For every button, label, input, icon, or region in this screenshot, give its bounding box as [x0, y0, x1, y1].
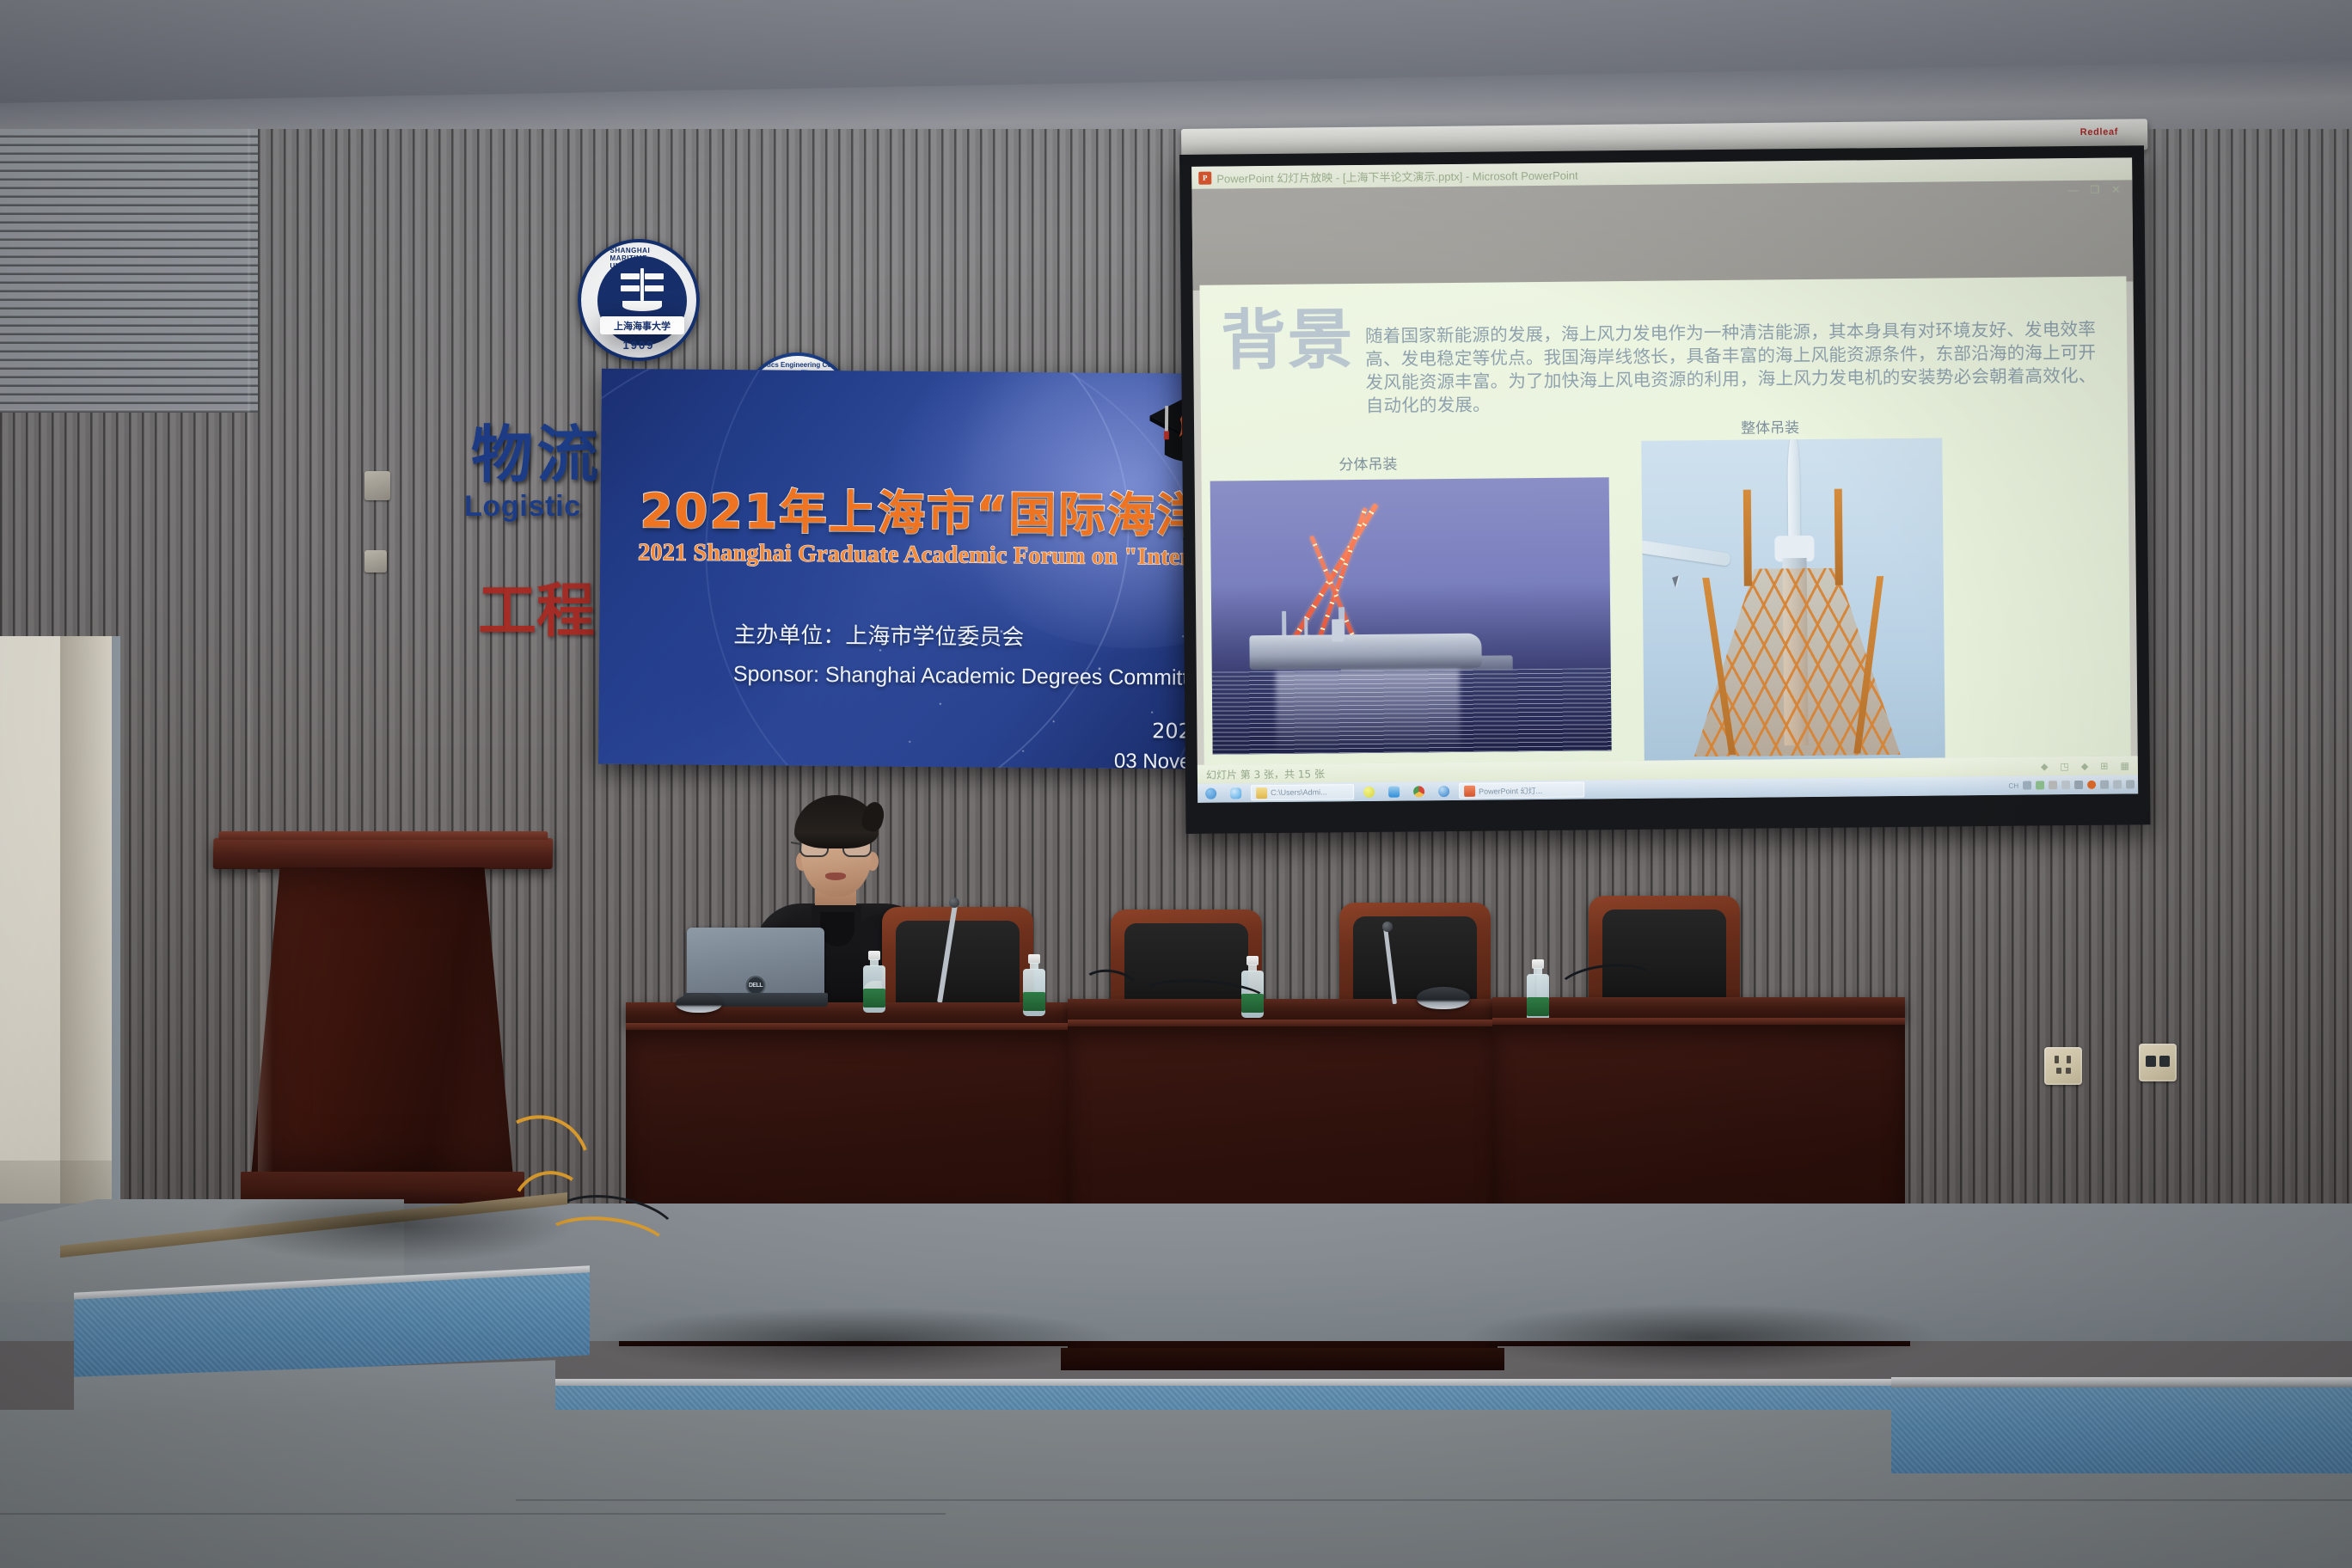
lectern-top — [213, 838, 554, 869]
internet-explorer-icon[interactable] — [1230, 787, 1241, 799]
event-banner: 2021年上海市“国际海洋新能 2021 Shanghai Graduate A… — [598, 369, 1255, 770]
tray-icon[interactable] — [2074, 781, 2083, 789]
maximize-icon[interactable]: ❐ — [2091, 184, 2100, 196]
water-bottle[interactable] — [1527, 959, 1549, 1021]
shanghai-maritime-university-wall-seal: SHANGHAI MARITIME UNIVERSITY 上海海事大学 1909 — [578, 239, 700, 361]
powerpoint-icon[interactable] — [1464, 785, 1475, 796]
mouse-cursor-icon — [1672, 576, 1681, 588]
taskbar-explorer-label: C:\Users\Admi... — [1271, 787, 1327, 797]
lectern-highlight — [258, 873, 273, 1173]
presenter-mouth — [825, 873, 846, 880]
wall-left-panel — [0, 129, 258, 413]
taskbar-powerpoint-label: PowerPoint 幻灯... — [1479, 784, 1542, 796]
windows-start-icon[interactable] — [1205, 787, 1216, 799]
view-icon[interactable]: ◆ — [2081, 760, 2089, 771]
turbine-blade — [1641, 531, 1730, 567]
folder-icon[interactable] — [1256, 787, 1267, 799]
seal-sail — [645, 285, 664, 291]
vessel-funnel — [1332, 619, 1344, 641]
lectern-body — [251, 867, 513, 1177]
microphone-head — [1382, 922, 1393, 932]
wall-lettering-red: 工程 — [478, 563, 595, 648]
conference-hall-photo: SHANGHAI MARITIME UNIVERSITY 上海海事大学 1909… — [0, 0, 2352, 1568]
tray-icon[interactable] — [2023, 781, 2031, 790]
slide-counter: 幻灯片 第 3 张，共 15 张 — [1206, 766, 1325, 781]
tray-warning-icon[interactable] — [2087, 781, 2096, 789]
status-bar-view-controls[interactable]: ◆ ◳ ◆ ⊞ ▦ — [2041, 756, 2129, 775]
minimize-icon[interactable]: — — [2068, 184, 2079, 196]
taskbar-start-button[interactable] — [1201, 786, 1221, 801]
taskbar-sogou-browser[interactable] — [1434, 783, 1454, 799]
tray-icon[interactable] — [2061, 781, 2070, 789]
banner-title-chinese: 2021年上海市“国际海洋新能 — [640, 472, 1255, 547]
banner-organizer-english: Sponsor: Shanghai Academic Degrees Commi… — [733, 662, 1212, 691]
wall-box-left — [364, 471, 390, 500]
seal-sail — [621, 273, 640, 279]
slide-caption-left: 分体吊装 — [1338, 452, 1397, 475]
water-bottle[interactable] — [1023, 954, 1045, 1016]
banner-title-english: 2021 Shanghai Graduate Academic Forum on… — [638, 539, 1225, 572]
powerpoint-chrome-band — [1191, 180, 2133, 290]
seal-year: 1909 — [581, 339, 696, 352]
conference-microphone-base — [676, 994, 722, 1013]
turbine-blade — [1787, 438, 1800, 541]
stage-right-riser — [1891, 1384, 2352, 1473]
view-icon[interactable]: ⊞ — [2100, 760, 2108, 771]
chrome-icon[interactable] — [1413, 786, 1424, 797]
presenter-hair — [794, 795, 879, 848]
doorway-shadow — [60, 636, 120, 1238]
screen-brand-label: Redleaf — [2080, 127, 2118, 138]
seal-hull — [622, 301, 662, 311]
tray-icon[interactable] — [2049, 781, 2057, 789]
seal-ring-text: Logistics Engineering College — [744, 361, 851, 369]
conference-microphone-base — [1417, 987, 1470, 1009]
microphone-head — [949, 897, 959, 908]
data-socket[interactable] — [2139, 1044, 2177, 1081]
powerpoint-title-text: PowerPoint 幻灯片放映 - [上海下半论文演示.pptx] - Mic… — [1216, 166, 1578, 186]
lattice-mast — [1743, 490, 1752, 586]
window-controls[interactable]: — ❐ ✕ — [2068, 183, 2121, 196]
slide-heading: 背景 — [1221, 309, 1355, 371]
seal-name-banner: 上海海事大学 — [600, 316, 684, 334]
qq-icon[interactable] — [1388, 786, 1400, 797]
ime-indicator[interactable]: CH — [2008, 781, 2018, 789]
conference-table-top-right — [1492, 997, 1905, 1020]
photo-turbine-lattice-tower — [1641, 438, 1945, 764]
wall-seam — [0, 409, 249, 412]
wall-lettering-chinese: 物流 — [471, 404, 603, 494]
wall-seam — [248, 129, 250, 1246]
power-socket[interactable] — [2044, 1047, 2082, 1085]
seal-sail — [621, 285, 640, 291]
view-icon[interactable]: ▦ — [2120, 760, 2129, 771]
tray-icon[interactable] — [2100, 781, 2109, 789]
projection-surface: P PowerPoint 幻灯片放映 - [上海下半论文演示.pptx] - M… — [1191, 157, 2138, 802]
slide-caption-right: 整体吊装 — [1741, 415, 1799, 438]
taskbar-360-browser[interactable] — [1359, 784, 1379, 799]
tray-network-icon[interactable] — [2126, 780, 2135, 788]
vessel-hull — [1249, 634, 1481, 671]
wall-box-left-2 — [364, 550, 387, 573]
banner-organizer-chinese: 主办单位：上海市学位委员会 — [733, 617, 1024, 652]
360-browser-icon[interactable] — [1363, 786, 1375, 797]
taskbar-powerpoint-window[interactable]: PowerPoint 幻灯... — [1459, 782, 1584, 799]
presentation-slide: 背景 随着国家新能源的发展，海上风力发电作为一种清洁能源，其本身具有对环境友好、… — [1199, 276, 2130, 764]
sea-reflection — [1212, 668, 1612, 754]
view-icon[interactable]: ◳ — [2060, 761, 2069, 772]
seal-sail — [645, 273, 664, 279]
seal-mast — [640, 268, 644, 301]
floor-seam — [516, 1499, 2352, 1501]
stage-right-nosing — [1891, 1377, 2352, 1387]
sogou-browser-icon[interactable] — [1438, 786, 1449, 797]
taskbar-explorer-window[interactable]: C:\Users\Admi... — [1251, 784, 1354, 800]
slide-body-text: 随着国家新能源的发展，海上风力发电作为一种清洁能源，其本身具有对环境友好、发电效… — [1365, 318, 2097, 418]
photo-offshore-crane-vessel — [1210, 477, 1612, 754]
wall-lettering-english: Logistic — [464, 490, 581, 524]
powerpoint-icon: P — [1198, 171, 1211, 184]
system-tray[interactable]: CH — [2008, 775, 2135, 794]
water-bottle[interactable] — [863, 951, 885, 1013]
taskbar-internet-explorer[interactable] — [1226, 785, 1246, 800]
taskbar-qq[interactable] — [1384, 784, 1404, 799]
close-icon[interactable]: ✕ — [2111, 183, 2120, 195]
taskbar-chrome[interactable] — [1409, 783, 1429, 799]
bottle-label — [1023, 992, 1045, 1011]
view-icon[interactable]: ◆ — [2041, 761, 2049, 772]
tray-icon[interactable] — [2036, 781, 2044, 789]
table-base-center — [1061, 1348, 1504, 1370]
bottle-label — [1527, 997, 1549, 1016]
lattice-mast — [1834, 489, 1843, 585]
tray-volume-icon[interactable] — [2113, 781, 2122, 789]
floor-seam — [0, 1513, 946, 1515]
bottle-label — [863, 989, 885, 1008]
projection-screen: P PowerPoint 幻灯片放映 - [上海下半论文演示.pptx] - M… — [1179, 145, 2151, 834]
